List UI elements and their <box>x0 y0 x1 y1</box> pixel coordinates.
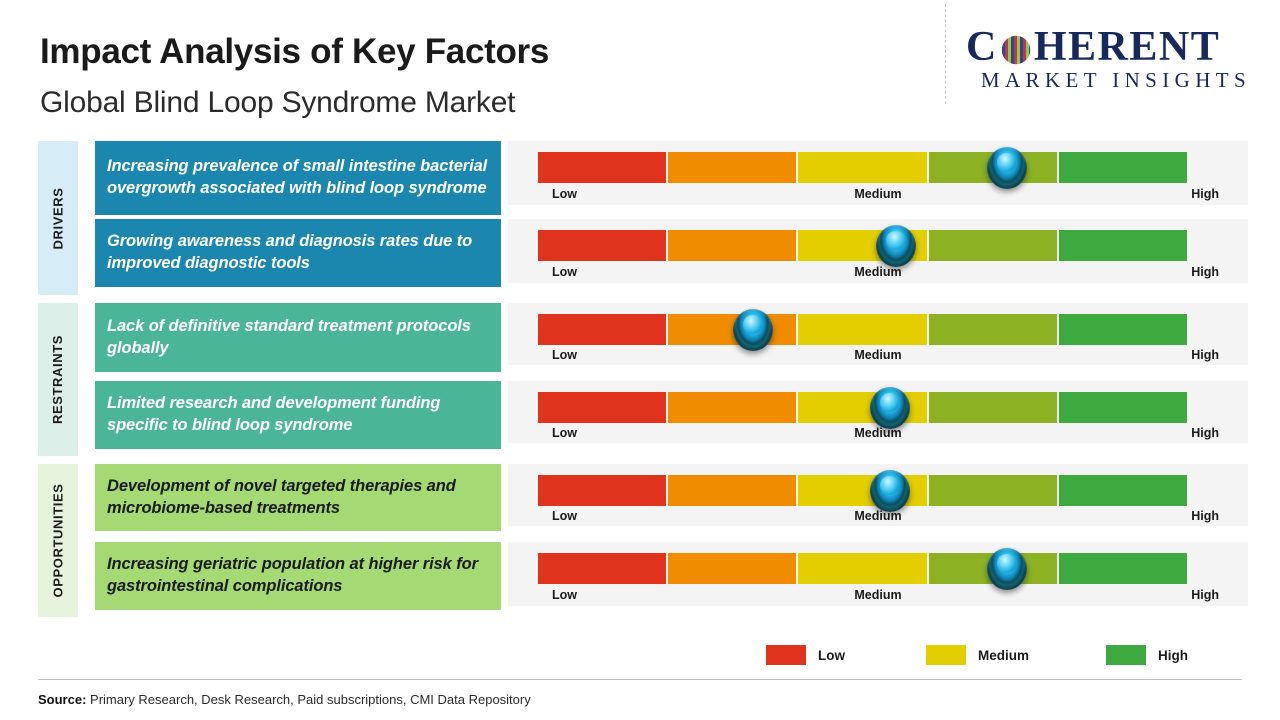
gauge-tick-high: High <box>1191 187 1219 201</box>
factor-box: Increasing geriatric population at highe… <box>95 542 501 610</box>
gauge-segment-low <box>538 152 666 183</box>
page-title: Impact Analysis of Key Factors <box>40 32 549 72</box>
gauge-tick-medium: Medium <box>854 348 901 362</box>
category-tab-drivers: DRIVERS <box>38 141 78 295</box>
factor-box: Development of novel targeted therapies … <box>95 464 501 531</box>
gauge-tick-low: Low <box>552 348 577 362</box>
category-tab-restraints: RESTRAINTS <box>38 303 78 456</box>
impact-gauge: Low Medium High <box>508 219 1248 283</box>
gauge-tick-medium: Medium <box>854 187 901 201</box>
legend-swatch-low <box>766 645 806 665</box>
gauge-segment-mid-high <box>929 314 1057 345</box>
gauge-segment-low <box>538 392 666 423</box>
gauge-segment-high <box>1059 475 1187 506</box>
gauge-bar <box>538 475 1189 506</box>
gauge-tick-low: Low <box>552 187 577 201</box>
gauge-marker[interactable] <box>987 147 1027 189</box>
header-divider <box>945 4 946 104</box>
impact-gauge: Low Medium High <box>508 141 1248 205</box>
logo-wordmark-prefix: C <box>966 23 998 71</box>
source-label: Source: <box>38 692 86 707</box>
gauge-segment-high <box>1059 314 1187 345</box>
gauge-tick-low: Low <box>552 588 577 602</box>
gauge-marker[interactable] <box>870 470 910 512</box>
impact-gauge: Low Medium High <box>508 542 1248 606</box>
gauge-segment-low <box>538 475 666 506</box>
gauge-segment-medium <box>798 553 926 584</box>
gauge-segment-mid-high <box>929 475 1057 506</box>
legend-swatch-high <box>1106 645 1146 665</box>
gauge-segment-high <box>1059 553 1187 584</box>
gauge-marker[interactable] <box>876 225 916 267</box>
gauge-bar <box>538 230 1189 261</box>
legend-item-medium: Medium <box>926 645 1029 665</box>
footer-divider <box>38 679 1242 680</box>
legend-item-low: Low <box>766 645 845 665</box>
impact-gauge: Low Medium High <box>508 464 1248 526</box>
gauge-segment-mid-high <box>929 392 1057 423</box>
category-label-restraints: RESTRAINTS <box>51 335 66 424</box>
gauge-tick-high: High <box>1191 426 1219 440</box>
gauge-segment-medium <box>798 314 926 345</box>
logo-wordmark: C HERENT <box>966 24 1262 70</box>
gauge-segment-medium <box>798 152 926 183</box>
gauge-segment-low <box>538 230 666 261</box>
brand-logo: C HERENT MARKET INSIGHTS <box>966 24 1262 100</box>
gauge-segment-low <box>538 314 666 345</box>
legend-label-low: Low <box>818 648 845 663</box>
gauge-tick-medium: Medium <box>854 588 901 602</box>
gauge-segment-low <box>538 553 666 584</box>
legend-label-medium: Medium <box>978 648 1029 663</box>
gauge-segment-low-mid <box>668 553 796 584</box>
category-tab-opportunities: OPPORTUNITIES <box>38 464 78 617</box>
gauge-tick-high: High <box>1191 588 1219 602</box>
gauge-marker[interactable] <box>870 387 910 429</box>
gauge-bar <box>538 553 1189 584</box>
gauge-bar <box>538 314 1189 345</box>
gauge-tick-high: High <box>1191 509 1219 523</box>
gauge-marker[interactable] <box>733 309 773 351</box>
page-header: Impact Analysis of Key Factors Global Bl… <box>0 0 1280 128</box>
factor-box: Growing awareness and diagnosis rates du… <box>95 219 501 287</box>
impact-board: DRIVERS RESTRAINTS OPPORTUNITIES Increas… <box>0 128 1280 620</box>
page-subtitle: Global Blind Loop Syndrome Market <box>40 86 515 120</box>
impact-gauge: Low Medium High <box>508 381 1248 443</box>
globe-icon <box>999 33 1033 67</box>
legend-item-high: High <box>1106 645 1188 665</box>
factor-box: Increasing prevalence of small intestine… <box>95 141 501 215</box>
factor-box: Lack of definitive standard treatment pr… <box>95 303 501 372</box>
gauge-segment-mid-high <box>929 230 1057 261</box>
gauge-tick-high: High <box>1191 348 1219 362</box>
gauge-tick-low: Low <box>552 265 577 279</box>
legend-label-high: High <box>1158 648 1188 663</box>
gauge-segment-high <box>1059 392 1187 423</box>
gauge-bar <box>538 392 1189 423</box>
factor-box: Limited research and development funding… <box>95 381 501 449</box>
gauge-segment-low-mid <box>668 152 796 183</box>
gauge-tick-medium: Medium <box>854 265 901 279</box>
gauge-segment-low-mid <box>668 230 796 261</box>
gauge-tick-medium: Medium <box>854 509 901 523</box>
gauge-tick-medium: Medium <box>854 426 901 440</box>
source-value: Primary Research, Desk Research, Paid su… <box>86 692 530 707</box>
legend-swatch-medium <box>926 645 966 665</box>
legend: Low Medium High <box>766 645 1236 669</box>
gauge-tick-high: High <box>1191 265 1219 279</box>
gauge-segment-low-mid <box>668 392 796 423</box>
logo-wordmark-suffix: HERENT <box>1034 23 1220 71</box>
impact-gauge: Low Medium High <box>508 303 1248 365</box>
gauge-marker[interactable] <box>987 548 1027 590</box>
source-note: Source: Primary Research, Desk Research,… <box>38 692 531 707</box>
logo-tagline: MARKET INSIGHTS <box>966 68 1262 93</box>
gauge-bar <box>538 152 1189 183</box>
category-label-drivers: DRIVERS <box>51 187 66 249</box>
gauge-segment-high <box>1059 152 1187 183</box>
gauge-tick-low: Low <box>552 509 577 523</box>
gauge-tick-low: Low <box>552 426 577 440</box>
gauge-segment-low-mid <box>668 475 796 506</box>
gauge-segment-high <box>1059 230 1187 261</box>
category-label-opportunities: OPPORTUNITIES <box>51 484 66 598</box>
